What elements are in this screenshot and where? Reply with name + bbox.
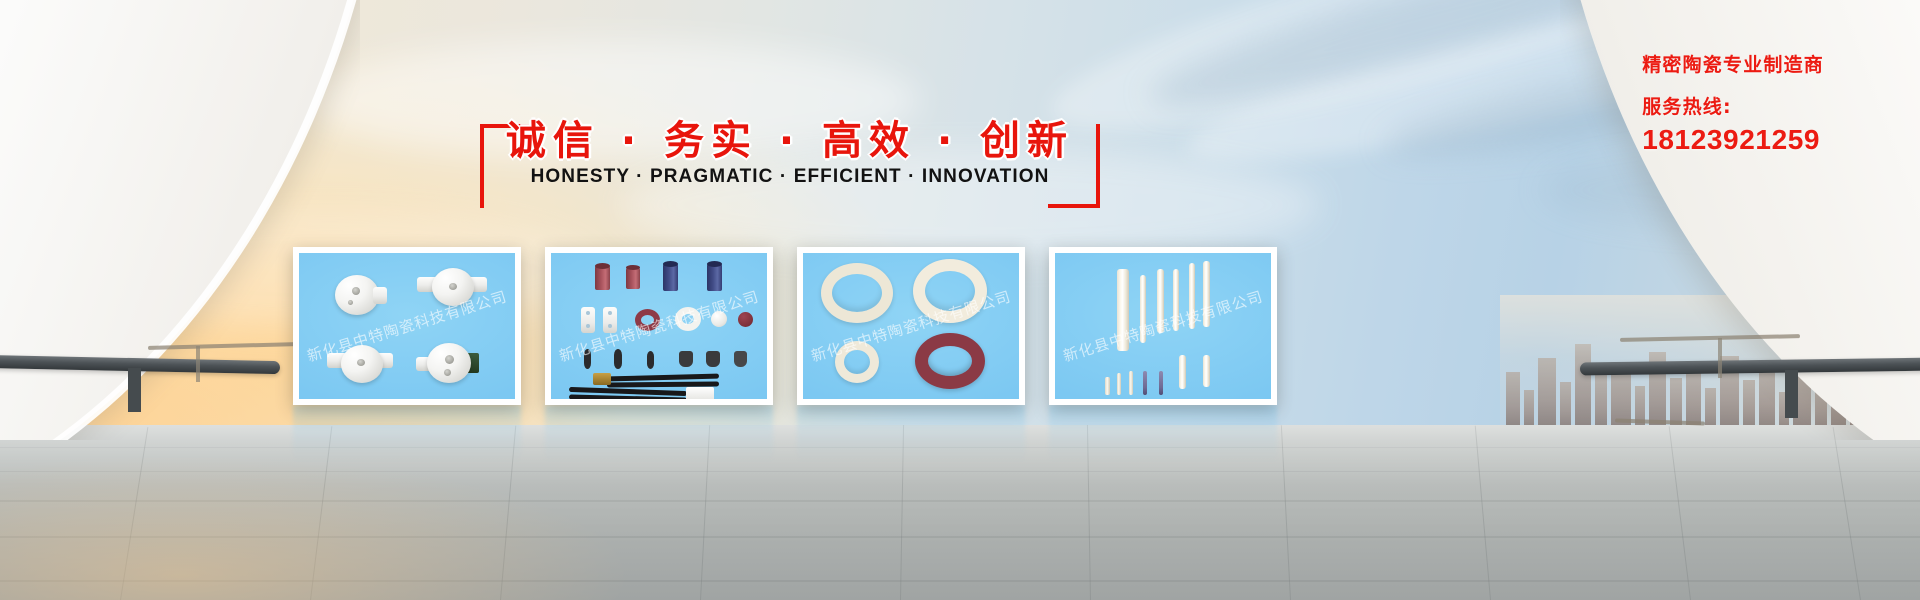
- slogan-english: HONESTY · PRAGMATIC · EFFICIENT · INNOVA…: [480, 166, 1100, 188]
- product-card-ceramic-rings[interactable]: 新化县中特陶瓷科技有限公司: [797, 247, 1025, 405]
- card-reflection: [797, 405, 1025, 461]
- contact-phone-number: 18123921259: [1642, 124, 1824, 156]
- card-reflection: [545, 405, 773, 461]
- card-reflection: [1049, 405, 1277, 461]
- product-card-ceramic-connectors[interactable]: 新化县中特陶瓷科技有限公司: [545, 247, 773, 405]
- product-card-ceramic-lamp-holders[interactable]: 新化县中特陶瓷科技有限公司: [293, 247, 521, 405]
- contact-block: 精密陶瓷专业制造商 服务热线: 18123921259: [1642, 50, 1824, 156]
- contact-hotline-label: 服务热线:: [1642, 92, 1824, 119]
- contact-tagline: 精密陶瓷专业制造商: [1642, 50, 1824, 77]
- product-card-ceramic-rods[interactable]: 新化县中特陶瓷科技有限公司: [1049, 247, 1277, 405]
- card-reflection: [293, 405, 521, 461]
- slogan-block: 诚信 · 务实 · 高效 · 创新 HONESTY · PRAGMATIC · …: [480, 108, 1100, 206]
- hero-banner: 诚信 · 务实 · 高效 · 创新 HONESTY · PRAGMATIC · …: [0, 0, 1920, 600]
- slogan-chinese: 诚信 · 务实 · 高效 · 创新: [480, 108, 1100, 166]
